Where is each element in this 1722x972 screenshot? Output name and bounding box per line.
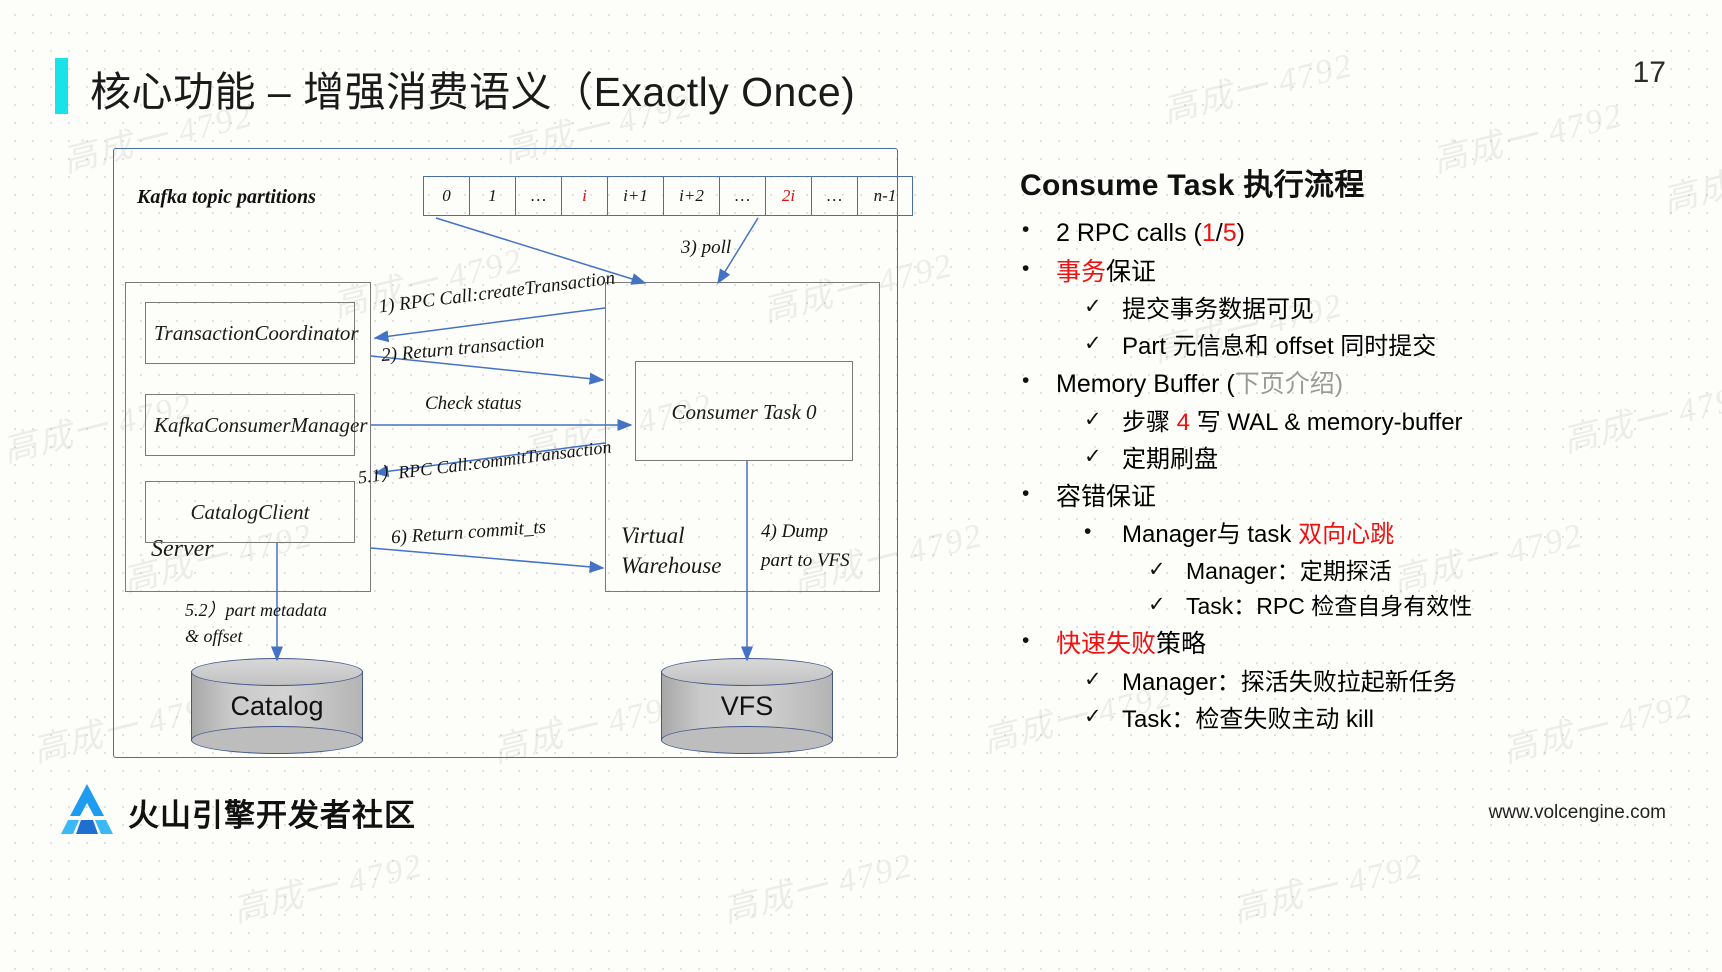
panel-list-item: ✓定期刷盘 xyxy=(1020,443,1680,476)
panel-item-text-run: Memory Buffer ( xyxy=(1056,370,1235,398)
panel-item-text-run: 提交事务数据可见 xyxy=(1122,296,1314,323)
check-icon: ✓ xyxy=(1084,330,1122,359)
panel-list-item: ✓Manager：定期探活 xyxy=(1020,556,1680,588)
panel-item-text: Memory Buffer (下页介绍) xyxy=(1056,367,1680,402)
panel-list-item: ✓步骤 4 写 WAL & memory-buffer xyxy=(1020,406,1680,439)
bullet-icon: • xyxy=(1022,627,1056,656)
panel-item-text-run: 事务 xyxy=(1056,258,1106,286)
bullet-icon: • xyxy=(1084,518,1122,547)
panel-list-item: ✓Part 元信息和 offset 同时提交 xyxy=(1020,330,1680,363)
panel-item-text: Task：RPC 检查自身有效性 xyxy=(1186,591,1680,623)
volcengine-logo-icon xyxy=(56,782,118,836)
panel-item-text: 2 RPC calls (1/5) xyxy=(1056,216,1680,251)
panel-list-item: ✓Task：RPC 检查自身有效性 xyxy=(1020,591,1680,623)
panel-item-text-run: 5 xyxy=(1223,219,1237,247)
page-title: 核心功能 – 增强消费语义（Exactly Once) xyxy=(90,58,855,118)
check-icon: ✓ xyxy=(1084,406,1122,435)
kafka-topic-partitions-label: Kafka topic partitions xyxy=(137,186,316,209)
title-accent-bar xyxy=(55,58,68,114)
partition-cell: … xyxy=(811,176,857,216)
watermark-text: 高成一 4792 xyxy=(1157,37,1358,132)
panel-item-text-run: / xyxy=(1216,219,1223,247)
panel-item-text: 事务保证 xyxy=(1056,255,1680,290)
arrow-label-4-dump: 4) Dump xyxy=(761,521,828,543)
panel-list-item: ✓Manager：探活失败拉起新任务 xyxy=(1020,666,1680,699)
partition-cell: i+2 xyxy=(663,176,719,216)
panel-list-item: •快速失败策略 xyxy=(1020,627,1680,662)
arrow-label-3: Check status xyxy=(425,393,522,415)
panel-item-text-run: 双向心跳 xyxy=(1298,521,1394,548)
bullet-icon: • xyxy=(1022,255,1056,284)
panel-item-text-run: 2 RPC calls ( xyxy=(1056,219,1202,247)
vfs-store: VFS xyxy=(661,658,833,754)
kafka-consumer-manager-label: KafkaConsumerManager xyxy=(154,413,346,438)
panel-list-item: •2 RPC calls (1/5) xyxy=(1020,216,1680,251)
panel-item-text: 快速失败策略 xyxy=(1056,627,1680,662)
panel-item-text-run: Task：检查失败主动 kill xyxy=(1122,706,1374,733)
panel-item-text-run: 步骤 xyxy=(1122,409,1177,436)
panel-item-text-run: ) xyxy=(1335,370,1343,398)
virtual-warehouse-label-line1: Virtual xyxy=(621,523,684,549)
page-number: 17 xyxy=(1633,56,1666,90)
partition-cell: i+1 xyxy=(607,176,663,216)
arrow-label-3-poll: 3) poll xyxy=(681,237,731,259)
partition-cell: 0 xyxy=(423,176,469,216)
panel-bullet-list: •2 RPC calls (1/5)•事务保证✓提交事务数据可见✓Part 元信… xyxy=(1020,216,1680,736)
vfs-label: VFS xyxy=(661,671,833,741)
partition-cell: 1 xyxy=(469,176,515,216)
catalog-label: Catalog xyxy=(191,671,363,741)
watermark-text: 高成一 4792 xyxy=(1227,837,1428,932)
panel-list-item: •Manager与 task 双向心跳 xyxy=(1020,518,1680,551)
check-icon: ✓ xyxy=(1148,556,1186,585)
slide-canvas: 高成一 4792高成一 4792高成一 4792高成一 4792高成一 4792… xyxy=(0,0,1722,972)
check-icon: ✓ xyxy=(1084,703,1122,732)
panel-item-text-run: ) xyxy=(1237,219,1245,247)
arrow-label-5-2: 5.2）part metadata xyxy=(185,596,327,622)
panel-item-text-run: Part 元信息和 offset 同时提交 xyxy=(1122,333,1436,360)
panel-list-item: •事务保证 xyxy=(1020,255,1680,290)
panel-item-text-run: Task：RPC 检查自身有效性 xyxy=(1186,593,1472,619)
consume-task-panel: Consume Task 执行流程 •2 RPC calls (1/5)•事务保… xyxy=(1020,160,1680,740)
panel-item-text: Manager：探活失败拉起新任务 xyxy=(1122,666,1680,699)
bullet-icon: • xyxy=(1022,367,1056,396)
panel-item-text: 定期刷盘 xyxy=(1122,443,1680,476)
panel-item-text-run: 容错保证 xyxy=(1056,483,1156,511)
panel-item-text: Manager：定期探活 xyxy=(1186,556,1680,588)
partition-cell: n-1 xyxy=(857,176,913,216)
panel-item-text-run: 4 xyxy=(1177,409,1190,436)
partition-cell: i xyxy=(561,176,607,216)
panel-list-item: •Memory Buffer (下页介绍) xyxy=(1020,367,1680,402)
check-icon: ✓ xyxy=(1084,443,1122,472)
watermark-text: 高成一 4792 xyxy=(717,837,918,932)
watermark-text: 高成一 4792 xyxy=(227,837,428,932)
virtual-warehouse-label-line2: Warehouse xyxy=(621,553,722,579)
bullet-icon: • xyxy=(1022,216,1056,245)
panel-item-text: 步骤 4 写 WAL & memory-buffer xyxy=(1122,406,1680,439)
check-icon: ✓ xyxy=(1148,591,1186,620)
catalog-client-label: CatalogClient xyxy=(154,500,346,525)
partition-cell: … xyxy=(719,176,765,216)
panel-item-text-run: 下页介绍 xyxy=(1235,370,1335,398)
panel-item-text: 容错保证 xyxy=(1056,480,1680,515)
panel-heading: Consume Task 执行流程 xyxy=(1020,160,1680,204)
panel-item-text: Manager与 task 双向心跳 xyxy=(1122,518,1680,551)
transaction-coordinator-label: TransactionCoordinator xyxy=(154,321,346,346)
check-icon: ✓ xyxy=(1084,666,1122,695)
panel-item-text-run: 策略 xyxy=(1156,630,1206,658)
bullet-icon: • xyxy=(1022,480,1056,509)
consumer-task-label: Consumer Task 0 xyxy=(635,400,853,425)
panel-item-text: 提交事务数据可见 xyxy=(1122,293,1680,326)
panel-item-text-run: Manager：探活失败拉起新任务 xyxy=(1122,669,1457,696)
panel-item-text-run: 写 WAL & memory-buffer xyxy=(1190,409,1463,436)
panel-list-item: ✓提交事务数据可见 xyxy=(1020,293,1680,326)
panel-list-item: ✓Task：检查失败主动 kill xyxy=(1020,703,1680,736)
catalog-store: Catalog xyxy=(191,658,363,754)
arrow-label-5-2-offset: & offset xyxy=(185,626,243,647)
panel-item-text: Task：检查失败主动 kill xyxy=(1122,703,1680,736)
kafka-partition-strip: 01…ii+1i+2…2i…n-1 xyxy=(423,176,913,216)
footer-brand: 火山引擎开发者社区 xyxy=(128,790,416,835)
partition-cell: 2i xyxy=(765,176,811,216)
panel-item-text-run: Manager：定期探活 xyxy=(1186,558,1392,584)
architecture-diagram: Kafka topic partitions 01…ii+1i+2…2i…n-1… xyxy=(113,148,898,758)
panel-list-item: •容错保证 xyxy=(1020,480,1680,515)
arrow-label-4-dump-part: part to VFS xyxy=(761,550,850,572)
panel-item-text-run: 快速失败 xyxy=(1056,630,1156,658)
panel-item-text-run: Manager与 task xyxy=(1122,521,1298,548)
footer-url: www.volcengine.com xyxy=(1489,802,1666,824)
panel-item-text: Part 元信息和 offset 同时提交 xyxy=(1122,330,1680,363)
panel-item-text-run: 保证 xyxy=(1106,258,1156,286)
partition-cell: … xyxy=(515,176,561,216)
panel-item-text-run: 1 xyxy=(1202,219,1216,247)
check-icon: ✓ xyxy=(1084,293,1122,322)
panel-item-text-run: 定期刷盘 xyxy=(1122,446,1218,473)
